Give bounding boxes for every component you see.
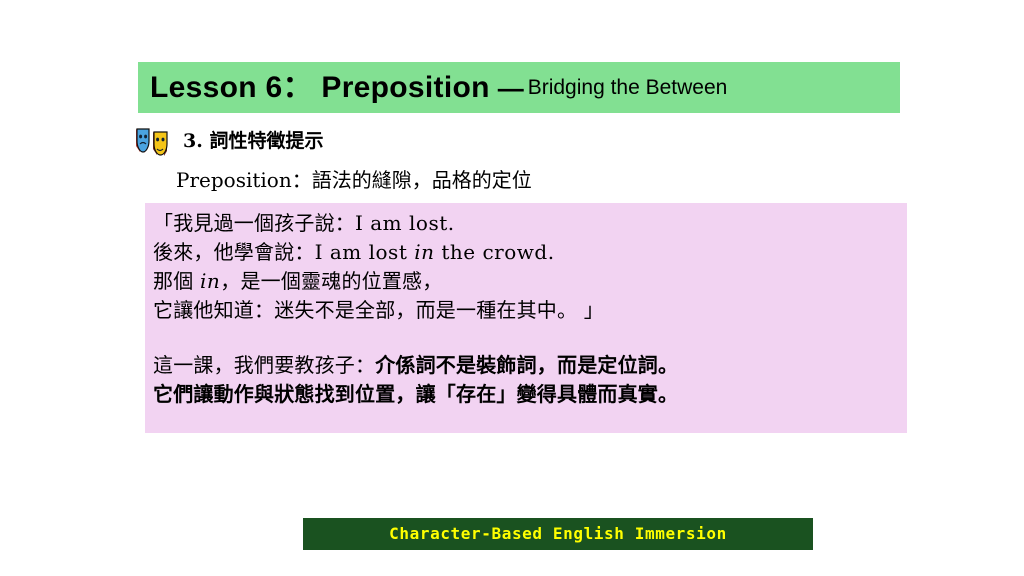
lesson-title-banner: Lesson 6： Preposition — Bridging the Bet… [138,62,900,113]
footer-banner: Character-Based English Immersion [303,518,813,550]
quote-line-1: 「我見過一個孩子說：I am lost. [153,209,897,238]
quote-box: 「我見過一個孩子說：I am lost. 後來，他學會說：I am lost i… [145,203,907,433]
quote-line-1-zh: 「我見過一個孩子說： [153,211,355,235]
title-dash: — [498,75,524,101]
quote-line-3-zh-b: ，是一個靈魂的位置感， [220,269,442,293]
quote-line-2-en-b: the crowd. [435,240,555,264]
quote-line-6: 它們讓動作與狀態找到位置，讓「存在」變得具體而真實。 [153,380,897,409]
paragraph-gap [153,325,897,351]
quote-line-3-preposition-in: in [200,269,220,293]
quote-line-5-intro: 這一課，我們要教孩子： [153,353,375,377]
lesson-subtitle: Bridging the Between [528,77,728,98]
quote-line-2-preposition-in: in [414,240,434,264]
quote-line-5-emphasis: 介係詞不是裝飾詞，而是定位詞。 [375,353,678,377]
slide-canvas: Lesson 6： Preposition — Bridging the Bet… [0,0,1024,576]
preposition-subtitle: Preposition：語法的縫隙，品格的定位 [176,168,532,192]
quote-line-2-zh: 後來，他學會說： [153,240,315,264]
quote-line-2-en-a: I am lost [315,240,415,264]
performing-arts-masks-icon [133,126,173,156]
footer-banner-text: Character-Based English Immersion [389,526,727,542]
quote-line-1-en: I am lost. [355,211,455,235]
quote-line-5: 這一課，我們要教孩子：介係詞不是裝飾詞，而是定位詞。 [153,351,897,380]
section-heading-row: 3. 詞性特徵提示 [133,124,323,158]
quote-line-3-zh-a: 那個 [153,269,200,293]
section-heading-label: 3. 詞性特徵提示 [183,132,323,151]
quote-line-2: 後來，他學會說：I am lost in the crowd. [153,238,897,267]
quote-line-3: 那個 in，是一個靈魂的位置感， [153,267,897,296]
lesson-title: Lesson 6： Preposition [150,73,490,103]
quote-line-4: 它讓他知道：迷失不是全部，而是一種在其中。 」 [153,296,897,325]
